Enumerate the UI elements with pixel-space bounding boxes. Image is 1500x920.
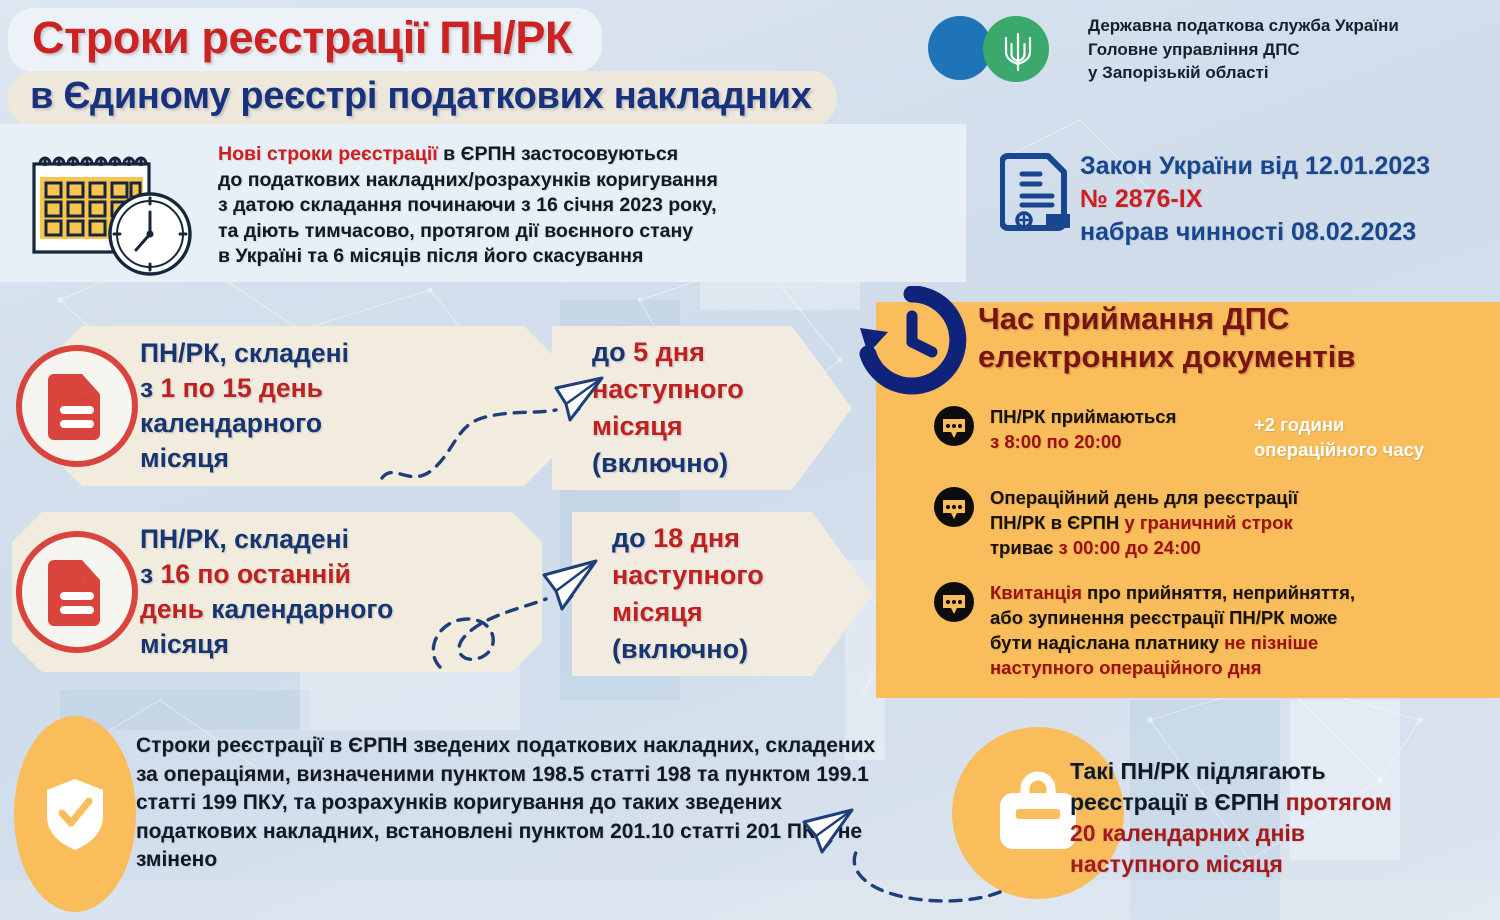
- target1-line3: місяця: [592, 408, 842, 445]
- bottom-left-text: Строки реєстрації в ЄРПН зведених податк…: [136, 732, 876, 875]
- rule2-line2-lead: з: [140, 559, 161, 589]
- target2-lead: до: [612, 523, 653, 553]
- rule2-line1: ПН/РК, складені: [140, 522, 560, 557]
- target1-lead: до: [592, 337, 633, 367]
- bottom-right-line1: Такі ПН/РК підлягають: [1070, 756, 1500, 787]
- top-text-line1-rest: в ЄРПН застосовуються: [438, 143, 678, 165]
- top-panel-text: Нові строки реєстрації в ЄРПН застосовую…: [218, 142, 948, 270]
- op-title-line1: Час приймання ДПС: [978, 300, 1498, 338]
- org-name: Державна податкова служба України Головн…: [1088, 14, 1488, 84]
- law-reference: Закон України від 12.01.2023 № 2876-IX н…: [1080, 150, 1500, 249]
- side-note-line2: операційного часу: [1254, 437, 1500, 462]
- shield-check-icon: [43, 776, 107, 852]
- bullet-3-text: Квитанція про прийняття, неприйняття, аб…: [990, 580, 1355, 680]
- rule2-line3-blue: календарного: [204, 594, 393, 624]
- page-title-line1: Строки реєстрації ПН/РК: [8, 8, 602, 72]
- top-text-line4: та діють тимчасово, протягом дії воєнног…: [218, 219, 948, 245]
- law-number: № 2876-IX: [1080, 183, 1500, 216]
- rule1-line4: місяця: [140, 441, 540, 476]
- infographic-page: Строки реєстрації ПН/РК в Єдиному реєстр…: [0, 0, 1500, 920]
- rule1-line2-lead: з: [140, 373, 161, 403]
- org-line-1: Державна податкова служба України: [1088, 14, 1488, 38]
- top-text-highlight: Нові строки реєстрації: [218, 143, 438, 165]
- document-icon: [46, 558, 108, 626]
- rule2-line3-red: день: [140, 594, 204, 624]
- top-text-line2: до податкових накладних/розрахунків кори…: [218, 168, 948, 194]
- bullet2-line1: Операційний день для реєстрації: [990, 485, 1298, 510]
- trident-icon: [1000, 30, 1036, 74]
- rule1-line1: ПН/РК, складені: [140, 336, 540, 371]
- document-certificate-icon: [1000, 152, 1070, 238]
- bullet3-line1-black: про прийняття, неприйняття,: [1082, 582, 1355, 603]
- top-text-line3: з датою складання починаючи з 16 січня 2…: [218, 193, 948, 219]
- rule-target-text-1: до 5 дня наступного місяця (включно): [592, 334, 842, 482]
- bullet-2-text: Операційний день для реєстрації ПН/РК в …: [990, 485, 1298, 560]
- target2-line4: (включно): [612, 631, 862, 668]
- rule2-line4: місяця: [140, 627, 560, 662]
- bottom-right-line4: наступного місяця: [1070, 849, 1500, 880]
- bullet3-line2: або зупинення реєстрації ПН/РК може: [990, 605, 1355, 630]
- target1-line4: (включно): [592, 445, 842, 482]
- reception-panel-title: Час приймання ДПС електронних документів: [978, 300, 1498, 376]
- top-text-line5: в Україні та 6 місяців після його скасув…: [218, 244, 948, 270]
- document-icon: [46, 372, 108, 440]
- bullet3-line4: наступного операційного дня: [990, 655, 1355, 680]
- reception-side-note: +2 години операційного часу: [1254, 412, 1500, 462]
- side-note-line1: +2 години: [1254, 412, 1500, 437]
- page-title-line2: в Єдиному реєстрі податкових накладних: [8, 71, 837, 126]
- law-line1: Закон України від 12.01.2023: [1080, 150, 1500, 183]
- bottom-right-line2-black: реєстрації в ЄРПН: [1070, 789, 1286, 815]
- header: Строки реєстрації ПН/РК в Єдиному реєстр…: [0, 0, 1500, 122]
- law-line3: набрав чинності 08.02.2023: [1080, 216, 1500, 249]
- rule1-line3: календарного: [140, 406, 540, 441]
- clock-icon: [854, 286, 970, 398]
- bullet3-line3-red: не пізніше: [1224, 632, 1318, 653]
- chat-bubble-icon: [934, 487, 974, 532]
- bottom-right-text: Такі ПН/РК підлягають реєстрації в ЄРПН …: [1070, 756, 1500, 880]
- shield-icon-ellipse: [14, 716, 136, 912]
- chat-bubble-icon: [934, 406, 974, 451]
- op-title-line2: електронних документів: [978, 338, 1498, 376]
- bullet2-line2-red: у граничний строк: [1124, 512, 1292, 533]
- rule-source-text-2: ПН/РК, складені з 16 по останній день ка…: [140, 522, 560, 662]
- rule-target-text-2: до 18 дня наступного місяця (включно): [612, 520, 862, 668]
- bullet2-line3-red: з 00:00 до 24:00: [1059, 537, 1201, 558]
- target1-red-head: 5 дня: [633, 337, 705, 367]
- bullet2-line2-black: ПН/РК в ЄРПН: [990, 512, 1124, 533]
- bullet-1-text: ПН/РК приймаються з 8:00 по 20:00: [990, 404, 1176, 454]
- rule2-line2-red: 16 по останній: [161, 559, 351, 589]
- rule-source-text-1: ПН/РК, складені з 1 по 15 день календарн…: [140, 336, 540, 476]
- bullet1-line1: ПН/РК приймаються: [990, 404, 1176, 429]
- bottom-right-line3: 20 календарних днів: [1070, 818, 1500, 849]
- calendar-clock-icon: [16, 144, 206, 279]
- reception-bullet-2: Операційний день для реєстрації ПН/РК в …: [934, 485, 1494, 560]
- org-line-3: у Запорізькій області: [1088, 61, 1488, 84]
- target2-line2: наступного: [612, 557, 862, 594]
- bullet3-line1-red: Квитанція: [990, 582, 1082, 603]
- bottom-right-line2-red: протягом: [1286, 789, 1392, 815]
- document-icon-circle-2: [16, 531, 138, 653]
- dps-logo: [928, 12, 1108, 84]
- target1-line2: наступного: [592, 371, 842, 408]
- reception-bullet-3: Квитанція про прийняття, неприйняття, аб…: [934, 580, 1494, 680]
- bullet1-line2: з 8:00 по 20:00: [990, 429, 1176, 454]
- org-line-2: Головне управління ДПС: [1088, 38, 1488, 61]
- target2-line3: місяця: [612, 594, 862, 631]
- document-icon-circle-1: [16, 345, 138, 467]
- target2-red-head: 18 дня: [653, 523, 740, 553]
- chat-bubble-icon: [934, 582, 974, 627]
- bullet3-line3-black: бути надіслана платнику: [990, 632, 1224, 653]
- rule1-line2-red: 1 по 15 день: [161, 373, 323, 403]
- bullet2-line3-black: триває: [990, 537, 1059, 558]
